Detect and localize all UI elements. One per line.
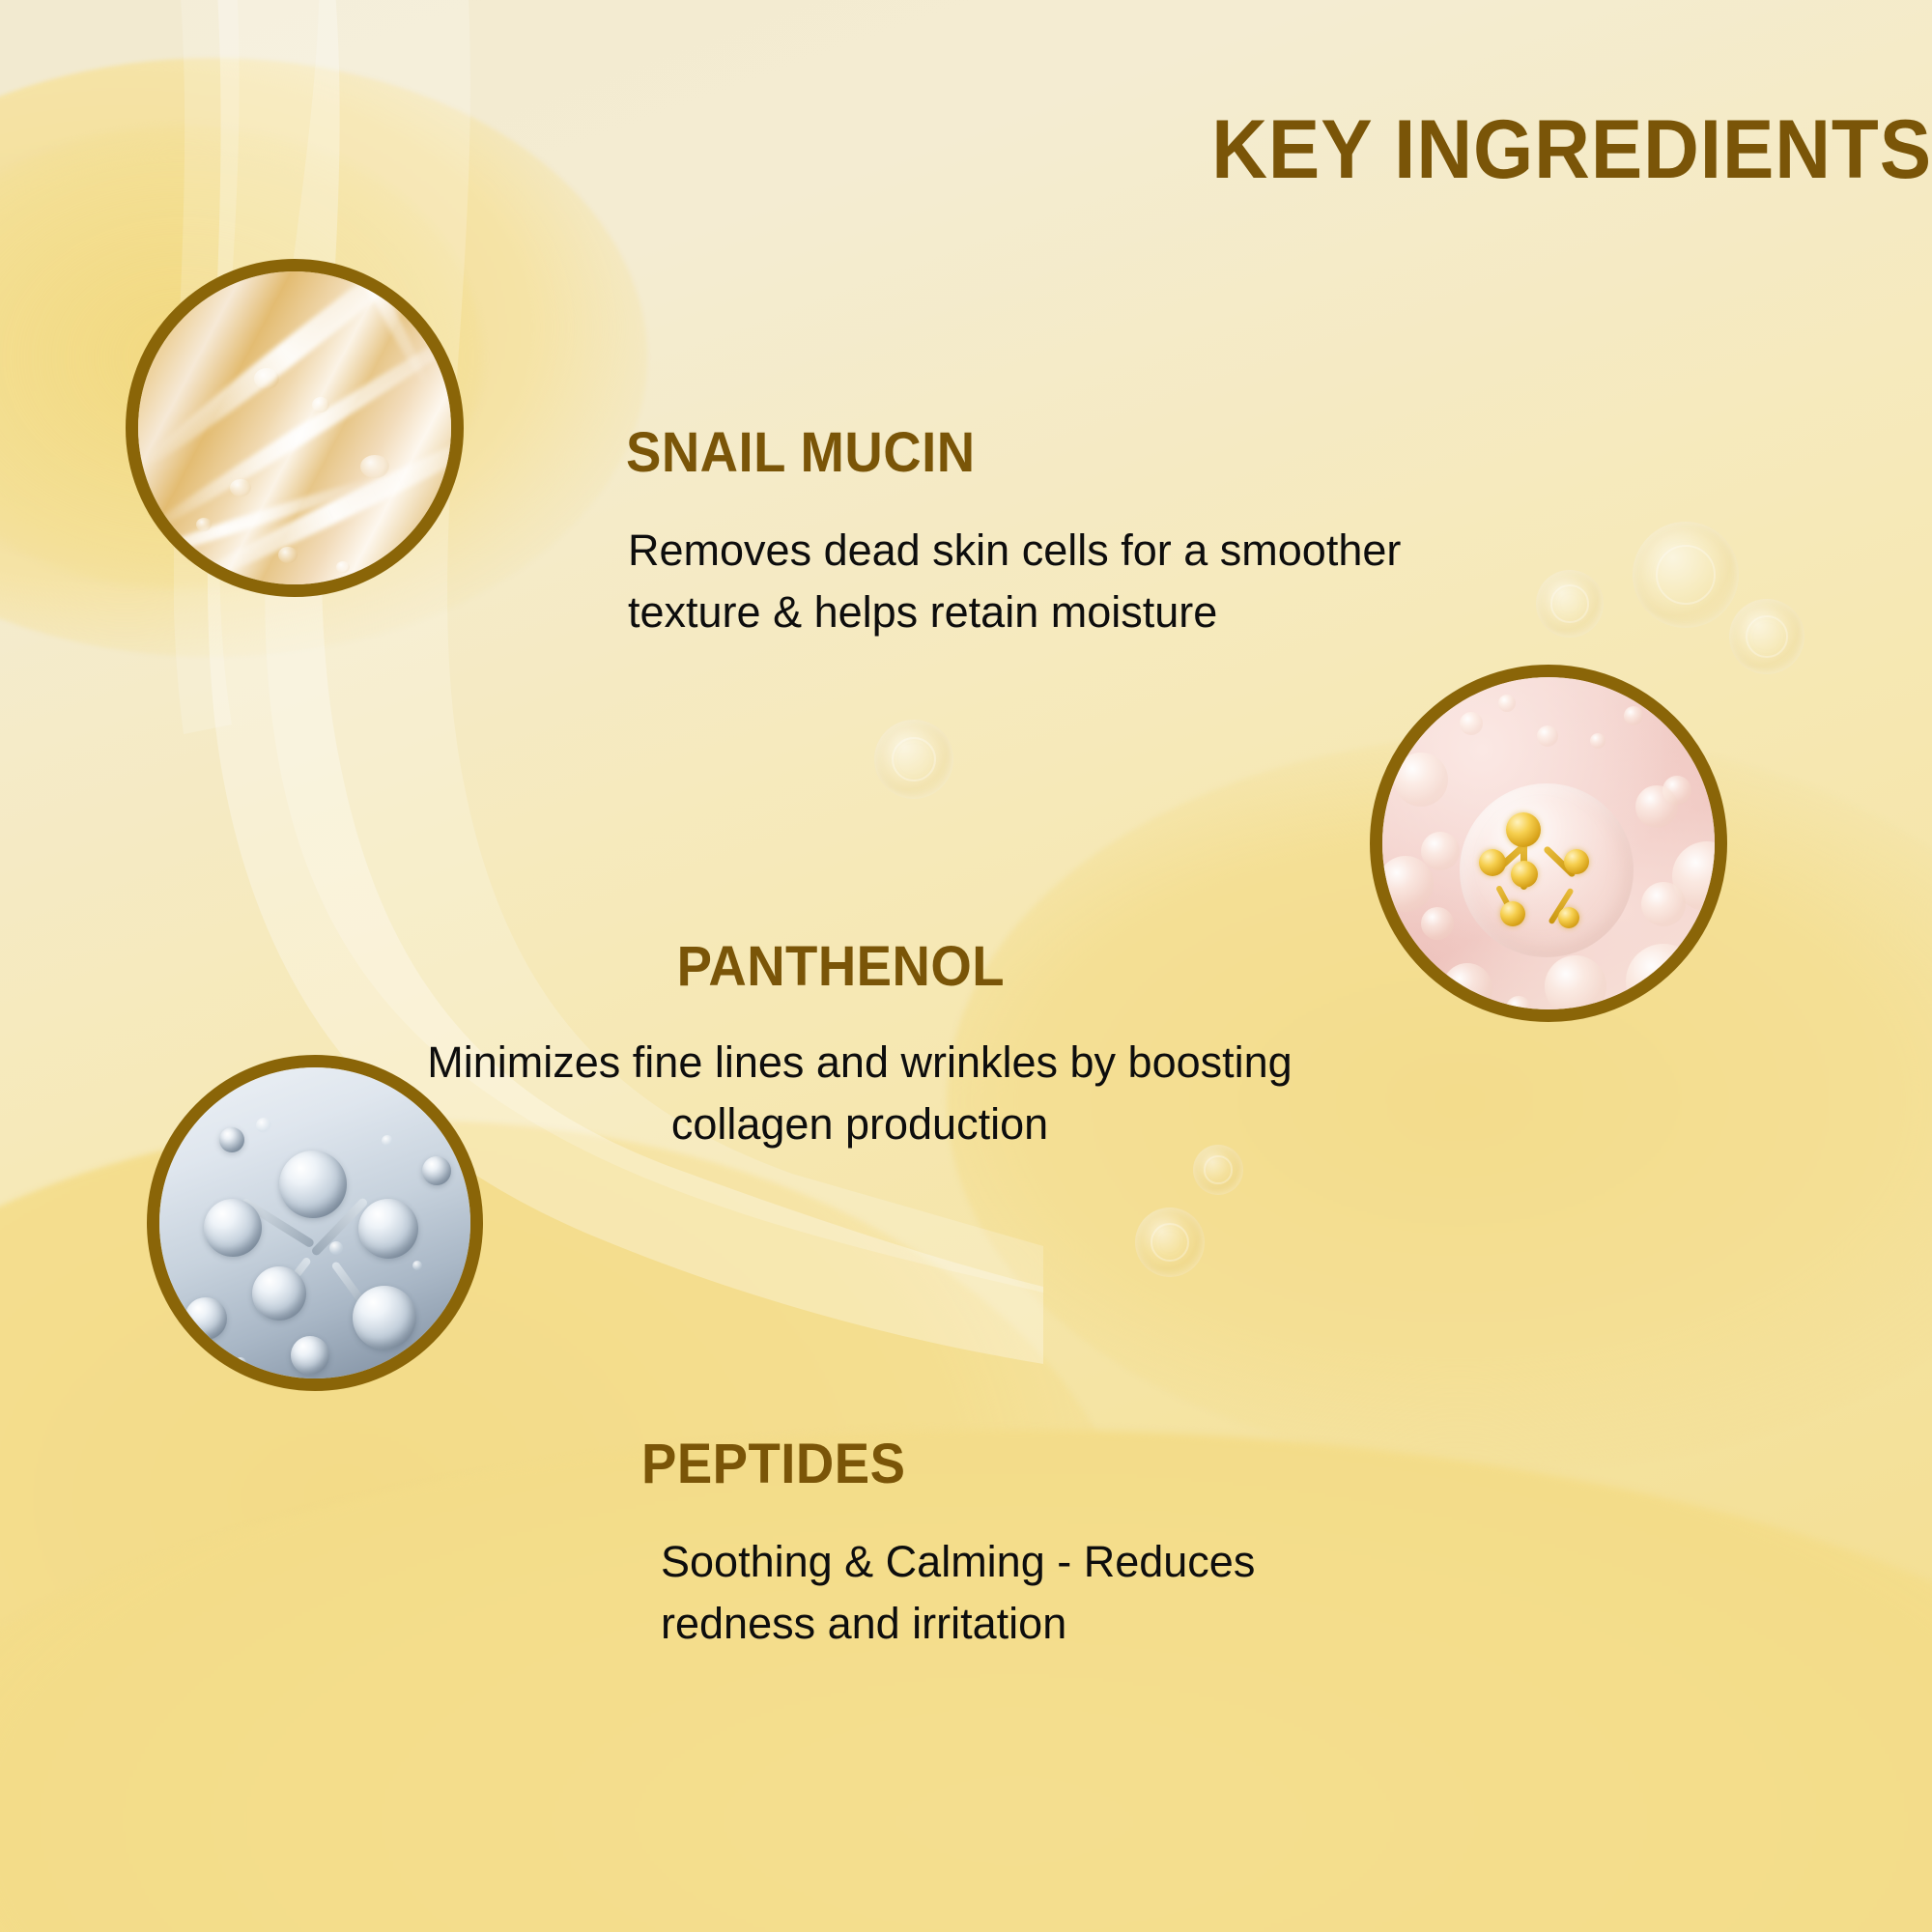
decorative-bubble: [1633, 522, 1739, 628]
ingredient-image-peptides: [147, 1055, 483, 1391]
ingredient-description-panthenol: Minimizes fine lines and wrinkles by boo…: [415, 1032, 1304, 1155]
decorative-bubble: [874, 720, 953, 799]
ingredient-description-snail-mucin: Removes dead skin cells for a smoother t…: [628, 520, 1430, 643]
ingredient-description-peptides: Soothing & Calming - Reduces redness and…: [661, 1531, 1414, 1655]
decorative-bubble: [1536, 570, 1604, 638]
ingredient-title-panthenol: PANTHENOL: [677, 939, 1005, 995]
ingredient-image-snail-mucin: [126, 259, 464, 597]
decorative-bubble: [1135, 1207, 1205, 1277]
key-ingredients-poster: KEY INGREDIENTS SNAIL MUCIN Removes dead…: [0, 0, 1932, 1932]
ingredient-title-peptides: PEPTIDES: [641, 1436, 905, 1492]
page-title: KEY INGREDIENTS: [908, 108, 1932, 191]
background-blob-bottom: [0, 1430, 1932, 1932]
decorative-bubble: [1729, 599, 1804, 674]
ingredient-title-snail-mucin: SNAIL MUCIN: [626, 425, 976, 481]
ingredient-image-panthenol: [1370, 665, 1727, 1022]
